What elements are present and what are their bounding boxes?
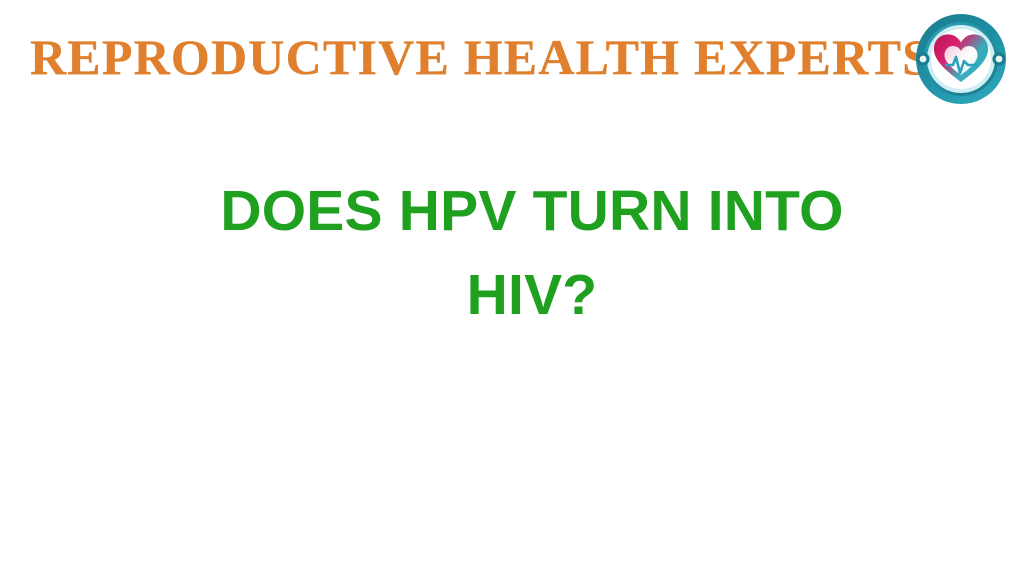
brand-wordmark[interactable]: Reproductive Health Experts	[30, 24, 870, 90]
article-body	[0, 320, 1024, 576]
brand-logo[interactable]	[913, 11, 1009, 107]
heart-pulse-circle-icon	[913, 11, 1009, 107]
page-title: DOES HPV TURN INTO HIV?	[62, 169, 1002, 337]
page-title-line-1: DOES HPV TURN INTO	[62, 169, 1002, 253]
site-header: Reproductive Health Experts	[0, 0, 1024, 120]
article-page: Reproductive Health Experts	[0, 0, 1024, 576]
